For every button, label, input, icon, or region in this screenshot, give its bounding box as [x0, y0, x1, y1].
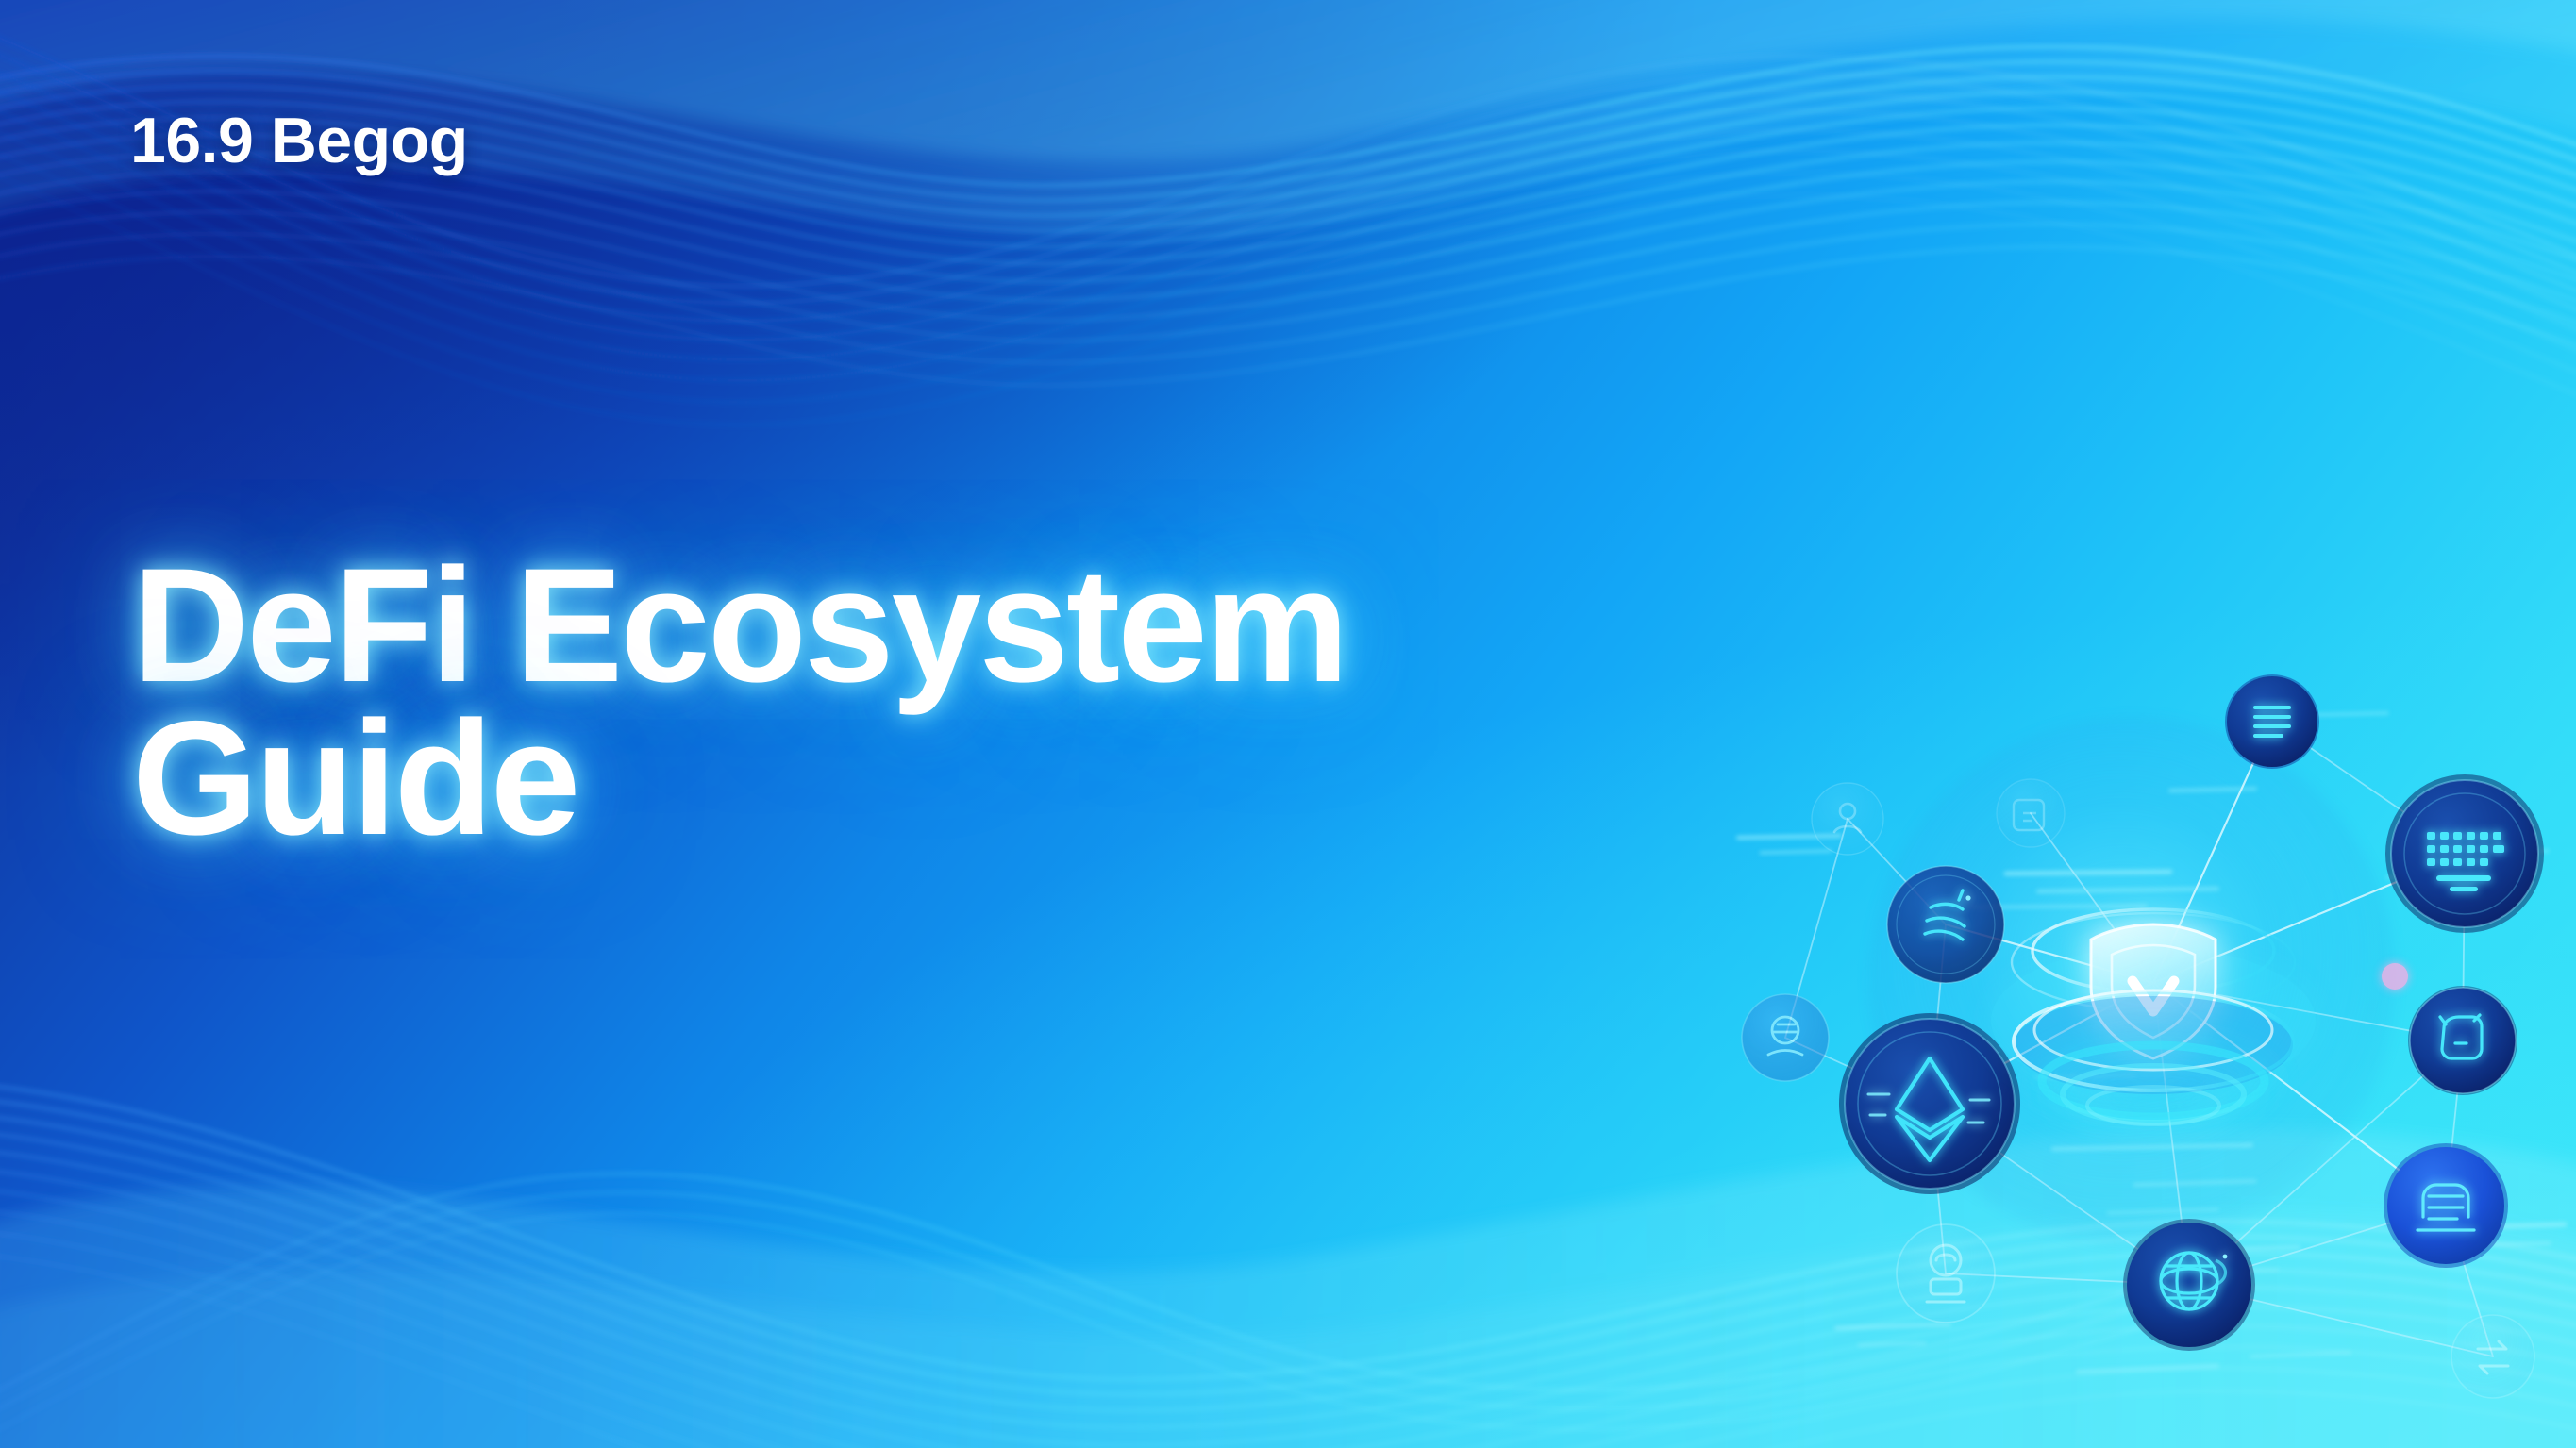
node-ethereum	[1839, 1013, 2020, 1194]
node-user-avatar	[1812, 783, 1883, 855]
brand-label: 16.9 Begog	[130, 104, 468, 177]
node-sprout-growth	[1887, 866, 2004, 983]
node-document-lines	[2225, 674, 2319, 769]
banner-root: 16.9 Begog DeFi Ecosystem Guide	[0, 0, 2576, 1448]
page-title-line-2: Guide	[132, 703, 1312, 856]
node-swap-arrows	[2451, 1315, 2534, 1398]
accent-dot	[2382, 963, 2408, 990]
node-document-list	[2384, 1143, 2508, 1268]
page-title: DeFi Ecosystem Guide	[132, 550, 1312, 855]
node-lock-stack	[1897, 1224, 1995, 1323]
node-wallet	[2408, 986, 2517, 1095]
node-coin-chart	[1742, 994, 1829, 1081]
defi-network-illustration	[1727, 651, 2576, 1448]
node-globe-network	[2123, 1219, 2255, 1351]
node-contract	[1997, 779, 2065, 847]
page-title-line-1: DeFi Ecosystem	[132, 550, 1312, 703]
node-keyboard-grid	[2385, 774, 2544, 933]
center-shield-node	[1991, 909, 2316, 1124]
